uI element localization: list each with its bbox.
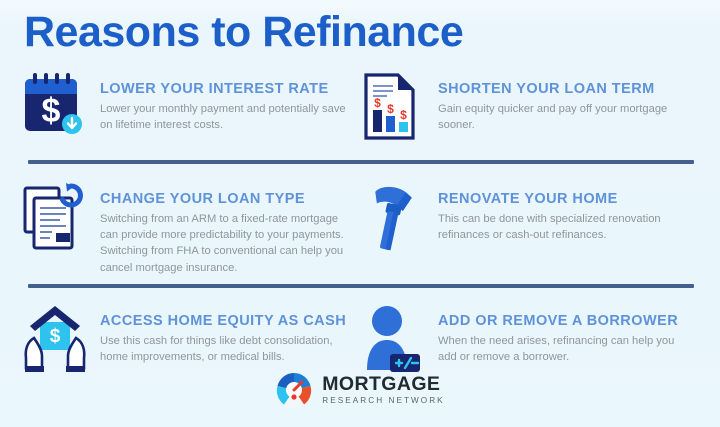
logo-subtitle: RESEARCH NETWORK: [322, 397, 444, 405]
reason-heading: RENOVATE YOUR HOME: [438, 191, 696, 207]
svg-text:$: $: [50, 326, 61, 347]
logo-wordmark: MORTGAGE RESEARCH NETWORK: [322, 375, 444, 405]
reason-body: Lower your monthly payment and potential…: [100, 101, 350, 133]
documents-refresh-icon: [22, 182, 90, 256]
section-divider-2: [28, 284, 694, 288]
infographic-canvas: Reasons to Refinance: [0, 0, 720, 427]
reason-item-change-your-loan-type: CHANGE YOUR LOAN TYPE Switching from an …: [0, 182, 350, 276]
reason-text-block: ACCESS HOME EQUITY AS CASH Use this cash…: [90, 304, 350, 378]
reason-heading: ADD OR REMOVE A BORROWER: [438, 313, 696, 329]
reason-heading: SHORTEN YOUR LOAN TERM: [438, 81, 696, 97]
logo-name: MORTGAGE: [322, 375, 444, 395]
reason-item-access-home-equity-as-cash: $ ACCESS HOME EQUITY AS CASH Use this ca…: [0, 304, 350, 378]
hammer-icon: [360, 182, 428, 256]
reason-text-block: CHANGE YOUR LOAN TYPE Switching from an …: [90, 182, 350, 276]
reason-text-block: ADD OR REMOVE A BORROWER When the need a…: [428, 304, 696, 378]
footer-logo: MORTGAGE RESEARCH NETWORK: [0, 371, 720, 409]
reason-item-add-or-remove-a-borrower: ADD OR REMOVE A BORROWER When the need a…: [350, 304, 700, 378]
page-title: Reasons to Refinance: [24, 8, 463, 57]
reasons-row-2: CHANGE YOUR LOAN TYPE Switching from an …: [0, 182, 720, 276]
reason-body: Gain equity quicker and pay off your mor…: [438, 101, 696, 133]
reason-item-shorten-your-loan-term: $ $ $ SHORTEN YOUR LOAN TERM Gain equity…: [350, 72, 700, 146]
reason-body: Use this cash for things like debt conso…: [100, 333, 350, 365]
reason-body: When the need arises, refinancing can he…: [438, 333, 696, 365]
reason-body: This can be done with specialized renova…: [438, 211, 696, 243]
gauge-circle-logo-icon: [275, 371, 313, 409]
reason-heading: CHANGE YOUR LOAN TYPE: [100, 191, 350, 207]
house-in-hands-dollar-icon: $: [22, 304, 90, 378]
reasons-grid: $ LOWER YOUR INTEREST RATE Lower your mo…: [0, 72, 720, 378]
svg-text:$: $: [374, 96, 381, 110]
reason-item-renovate-your-home: RENOVATE YOUR HOME This can be done with…: [350, 182, 700, 276]
svg-text:$: $: [387, 102, 394, 116]
reason-item-lower-your-interest-rate: $ LOWER YOUR INTEREST RATE Lower your mo…: [0, 72, 350, 146]
reason-heading: LOWER YOUR INTEREST RATE: [100, 81, 350, 97]
reasons-row-3: $ ACCESS HOME EQUITY AS CASH Use this ca…: [0, 304, 720, 378]
reason-text-block: SHORTEN YOUR LOAN TERM Gain equity quick…: [428, 72, 696, 146]
reasons-row-1: $ LOWER YOUR INTEREST RATE Lower your mo…: [0, 72, 720, 146]
section-divider-1: [28, 160, 694, 164]
reason-text-block: RENOVATE YOUR HOME This can be done with…: [428, 182, 696, 276]
reason-heading: ACCESS HOME EQUITY AS CASH: [100, 313, 350, 329]
calendar-dollar-down-icon: $: [22, 72, 90, 146]
reason-body: Switching from an ARM to a fixed-rate mo…: [100, 211, 350, 276]
reason-text-block: LOWER YOUR INTEREST RATE Lower your mont…: [90, 72, 350, 146]
svg-text:$: $: [42, 92, 61, 130]
document-bar-chart-dollar-icon: $ $ $: [360, 72, 428, 146]
person-plus-minus-icon: [360, 304, 428, 378]
svg-text:$: $: [400, 108, 407, 122]
